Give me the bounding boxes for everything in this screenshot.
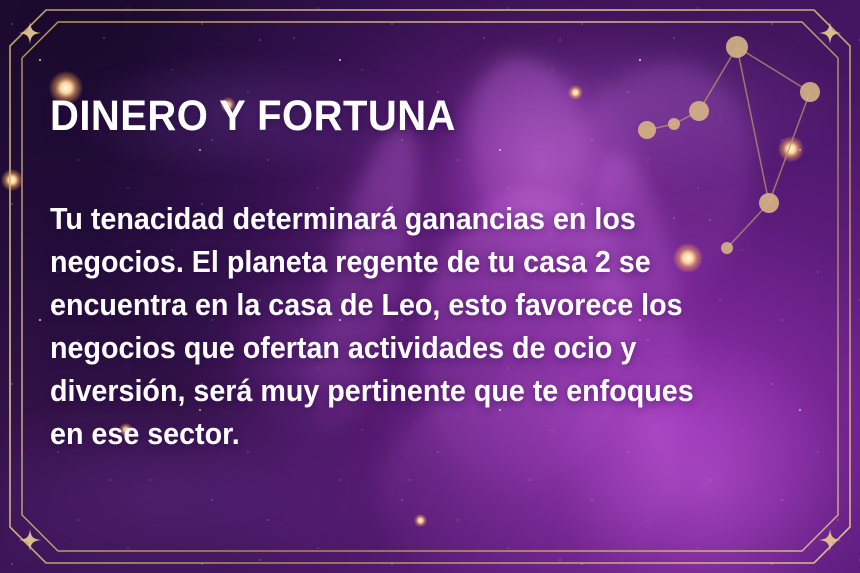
body-paragraph: Tu tenacidad determinará ganancias en lo… [50,198,722,456]
card-content: DINERO Y FORTUNA Tu tenacidad determinar… [50,0,780,573]
horoscope-card: DINERO Y FORTUNA Tu tenacidad determinar… [0,0,860,573]
page-title: DINERO Y FORTUNA [50,92,456,140]
